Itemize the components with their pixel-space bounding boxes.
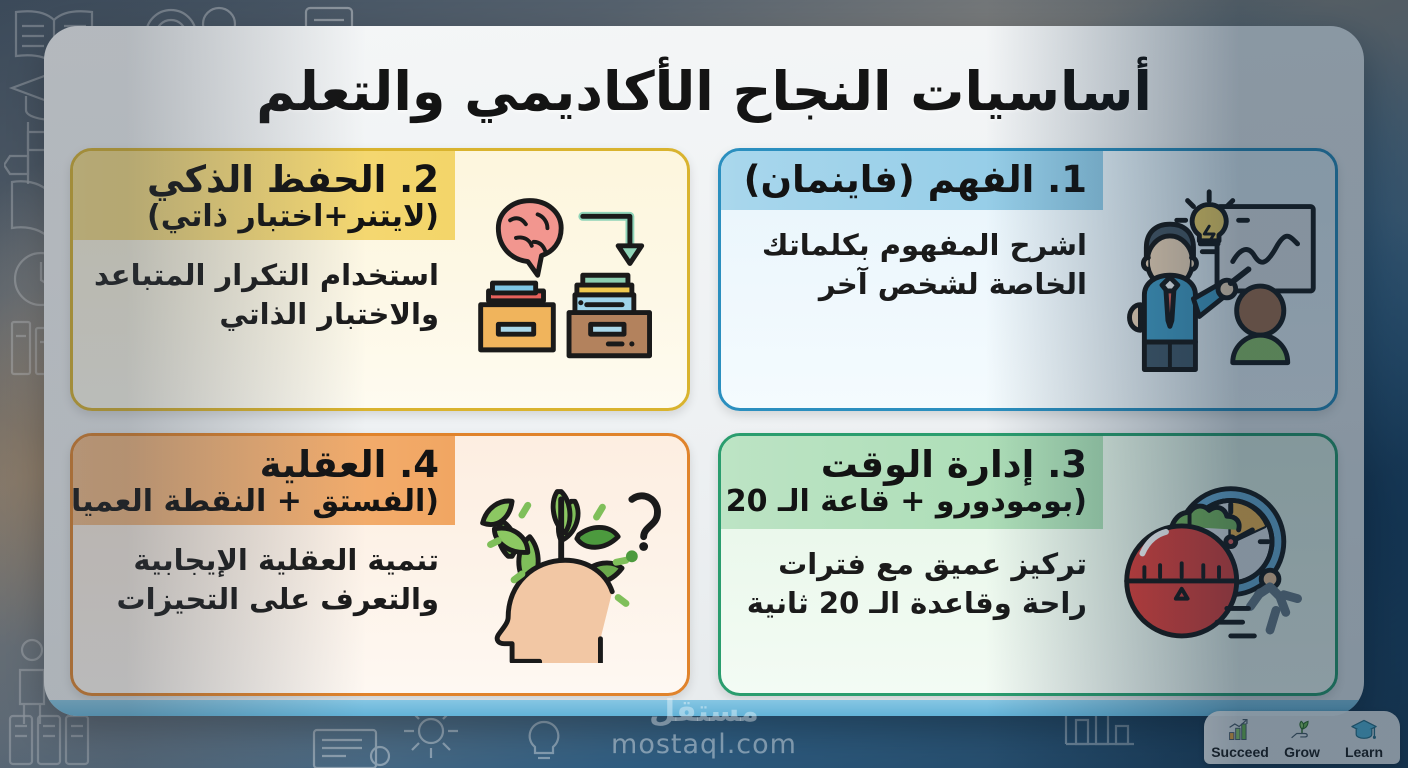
- cards-grid: 1. الفهم (فاينمان) اشرح المفهوم بكلماتك …: [70, 148, 1338, 696]
- badge-label-learn: Learn: [1345, 744, 1383, 760]
- panel-bottom-accent: [44, 700, 1364, 716]
- card-understanding[interactable]: 1. الفهم (فاينمان) اشرح المفهوم بكلماتك …: [718, 148, 1338, 411]
- card-smart-memorization[interactable]: 2. الحفظ الذكي (لايتنر+اختبار ذاتي) استخ…: [70, 148, 690, 411]
- graduation-cap-icon: [1349, 717, 1379, 743]
- card-body-3: تركيز عميق مع فترات راحة وقاعدة الـ 20 ث…: [721, 529, 1103, 633]
- badge-item-succeed[interactable]: Succeed: [1214, 717, 1266, 760]
- card-illustration-2: [455, 151, 687, 408]
- card-header-band-3: 3. إدارة الوقت (بومودورو + قاعة الـ 20 ث…: [718, 436, 1103, 529]
- card-text-3: 3. إدارة الوقت (بومودورو + قاعة الـ 20 ث…: [721, 436, 1103, 693]
- card-time-management[interactable]: 3. إدارة الوقت (بومودورو + قاعة الـ 20 ث…: [718, 433, 1338, 696]
- card-heading-3: 3. إدارة الوقت: [718, 444, 1087, 485]
- infographic-canvas: أساسيات النجاح الأكاديمي والتعلم: [0, 0, 1408, 768]
- card-illustration-1: [1103, 151, 1335, 408]
- card-mindset[interactable]: 4. العقلية (الفستق + النقطة العمياء) تنم…: [70, 433, 690, 696]
- badge-label-succeed: Succeed: [1211, 744, 1269, 760]
- content-panel: أساسيات النجاح الأكاديمي والتعلم: [44, 26, 1364, 716]
- card-heading-4: 4. العقلية: [70, 444, 439, 485]
- head-growing-plant-question-icon: [463, 466, 679, 662]
- card-text-4: 4. العقلية (الفستق + النقطة العمياء) تنم…: [73, 436, 455, 693]
- badge-item-learn[interactable]: Learn: [1338, 717, 1390, 760]
- brain-flashcard-boxes-icon: [463, 181, 679, 377]
- card-subheading-2: (لايتنر+اختبار ذاتي): [70, 200, 439, 234]
- badge-label-grow: Grow: [1284, 744, 1320, 760]
- card-subheading-4: (الفستق + النقطة العمياء): [70, 485, 439, 519]
- card-body-2: استخدام التكرار المتباعد والاختبار الذات…: [73, 240, 455, 344]
- card-header-band-4: 4. العقلية (الفستق + النقطة العمياء): [70, 436, 455, 525]
- card-heading-2: 2. الحفظ الذكي: [70, 159, 439, 200]
- pomodoro-tomato-clock-runner-icon: [1111, 471, 1327, 658]
- server-icon: [6, 712, 98, 768]
- certificate-icon: [310, 726, 396, 768]
- badge-item-grow[interactable]: Grow: [1276, 717, 1328, 760]
- sprout-in-hand-icon: [1287, 717, 1317, 743]
- teacher-whiteboard-lightbulb-icon: [1111, 181, 1327, 377]
- card-illustration-3: [1103, 436, 1335, 693]
- learn-grow-succeed-badge[interactable]: Learn Grow Succeed: [1204, 711, 1400, 764]
- bulb-small-icon: [520, 716, 568, 768]
- card-header-band-2: 2. الحفظ الذكي (لايتنر+اختبار ذاتي): [70, 151, 455, 240]
- card-header-band-1: 1. الفهم (فاينمان): [718, 151, 1103, 210]
- card-subheading-3: (بومودورو + قاعة الـ 20 ثانية): [718, 485, 1087, 519]
- card-illustration-4: [455, 436, 687, 693]
- card-heading-1: 1. الفهم (فاينمان): [718, 159, 1087, 200]
- card-text-2: 2. الحفظ الذكي (لايتنر+اختبار ذاتي) استخ…: [73, 151, 455, 408]
- growth-chart-icon: [1225, 717, 1255, 743]
- card-text-1: 1. الفهم (فاينمان) اشرح المفهوم بكلماتك …: [721, 151, 1103, 408]
- card-body-1: اشرح المفهوم بكلماتك الخاصة لشخص آخر: [721, 210, 1103, 314]
- card-body-4: تنمية العقلية الإيجابية والتعرف على التح…: [73, 525, 455, 629]
- page-title: أساسيات النجاح الأكاديمي والتعلم: [44, 60, 1364, 123]
